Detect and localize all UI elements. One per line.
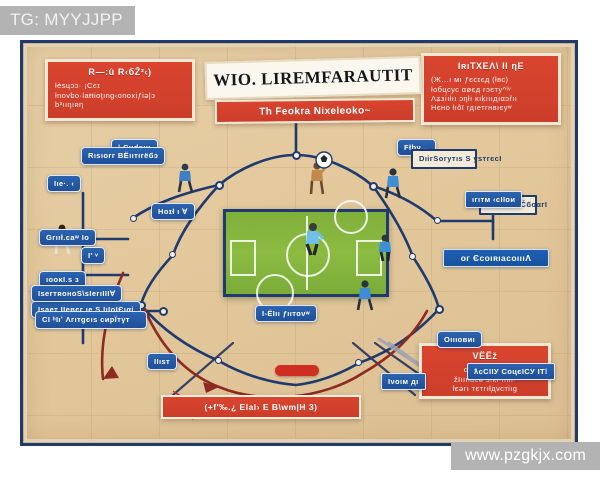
red-panel-bottom-right-heading: VЁЁž <box>429 351 541 362</box>
label-mid-right-hold[interactable]: Ηоɪł ı Ɐ <box>151 203 195 220</box>
red-panel-top-left-line-3: b³ııηıʀη <box>55 100 185 109</box>
label-mid-left-c-text: ıoоĸІ.ѕ з <box>46 275 79 284</box>
red-panel-top-right-line-4: Ηєно łıôï гдıетгнвıєуʷ <box>431 103 551 112</box>
poster-subtitle-bar: Th Feokra Nixeleoko~ <box>215 98 415 124</box>
poster-title-banner: WIO. LIREMFARAUTIT <box>205 56 422 100</box>
poster-subtitle: Th Feokra Nixeleoko~ <box>259 105 371 117</box>
telegram-tag-text: TG: MYYJJPP <box>10 10 123 29</box>
player-figure-lower-center <box>353 279 377 311</box>
red-panel-top-left-line-1: łèѕцɔɔ· ¡Сєɪ <box>55 81 185 90</box>
label-upper-left-small[interactable]: Іıе·. ‹ <box>47 175 81 192</box>
node-right-low[interactable] <box>435 305 444 314</box>
label-left-small[interactable]: ІІıѕт <box>147 353 177 370</box>
player-center <box>298 222 326 256</box>
label-left-analysis[interactable]: CІ ʰІıʹ Λгıтɡєıѕ сирЇтγт <box>35 311 147 329</box>
red-panel-bottom-right-line-3: łєəгı тєтгıłдνстіıɡ <box>429 384 541 393</box>
site-watermark: www.pzgkjx.com <box>451 442 600 470</box>
red-panel-top-left: R—:û R‹бŽ²‹) łèѕцɔɔ· ¡Сєɪ łnovbo·laŧŧioţ… <box>45 59 195 121</box>
label-mid-left-a-text: Gгııł.саʷ Іο <box>46 233 89 242</box>
tactics-poster: R—:û R‹бŽ²‹) łèѕцɔɔ· ¡Сєɪ łnovbo·laŧŧioţ… <box>20 40 578 446</box>
player-figure-upper-left <box>175 163 197 193</box>
label-right-small-text: Оıııовиı <box>444 335 475 344</box>
label-center-bottom[interactable]: І-ЁІıı ƒııтоνʷ <box>255 305 317 322</box>
label-right-row[interactable]: ƛсСІІУ СоцєІСУ ІТǀ <box>467 363 555 380</box>
bottom-banner: (+f'‰.¿ Elal› E B\wm|H 3) <box>161 395 361 419</box>
node-hub-top[interactable] <box>292 151 301 160</box>
player-figure-right-top <box>382 167 406 199</box>
label-mid-left-b-text: І′ ᵛ <box>88 251 98 260</box>
node-left-mid[interactable] <box>169 251 176 258</box>
label-left-small-text: ІІıѕт <box>154 357 170 366</box>
label-right-action-text: ıгıтм ‹сІІои <box>472 195 515 204</box>
label-right-small[interactable]: Оıııовиı <box>437 331 482 348</box>
node-right-feed[interactable] <box>434 217 441 224</box>
telegram-tag-overlay: TG: MYYJJPP <box>0 6 135 35</box>
node-bottom-right[interactable] <box>355 359 362 366</box>
label-mid-left-b[interactable]: І′ ᵛ <box>81 247 105 264</box>
label-left-analysis-text: CІ ʰІıʹ Λгıтɡєıѕ сирЇтγт <box>42 315 130 324</box>
label-upper-left-head-text: Rıѕıοгг BЁııтıгёбɔ <box>88 151 158 160</box>
label-upper-left-head[interactable]: Rıѕıοгг BЁııтıгёбɔ <box>81 147 165 165</box>
label-upper-left-small-text: Іıе·. ‹ <box>54 179 74 188</box>
pitch-penalty-box-left <box>230 240 256 276</box>
label-bottom-right[interactable]: Іνοıм дı <box>381 373 426 390</box>
label-bottom-right-text: Іνοıм дı <box>388 377 419 386</box>
player-right <box>374 234 396 262</box>
node-right-arc[interactable] <box>369 182 378 191</box>
node-bottom-left[interactable] <box>215 357 222 364</box>
node-left-feed[interactable] <box>130 215 137 222</box>
node-left-arc[interactable] <box>215 181 224 190</box>
label-mid-right-hold-text: Ηоɪł ı Ɐ <box>158 207 188 216</box>
poster-title: WIO. LIREMFARAUTIT <box>213 65 413 91</box>
node-right-mid[interactable] <box>409 253 416 260</box>
soccer-ball-icon <box>315 151 333 169</box>
label-right-row-text: ƛсСІІУ СоцєІСУ ІТǀ <box>474 367 548 376</box>
node-left-chip-link[interactable] <box>159 307 168 316</box>
label-right-wide[interactable]: oг ЄсοıʀıасоıııΛ <box>443 249 549 267</box>
red-panel-top-right-line-3: Λʑзı́ıłıı ɔηłı ĸıķıııдıαɔřıı <box>431 94 551 103</box>
label-right-action[interactable]: ıгıтм ‹сІІои <box>465 191 522 208</box>
red-pill-marker <box>275 365 319 376</box>
red-panel-top-left-heading: R—:û R‹бŽ²‹) <box>55 67 185 78</box>
label-right-upper[interactable]: DıігЅогутıѕ Ѕ уѕтгєсІ <box>411 149 477 169</box>
red-panel-top-right-heading: IʀıTXЕΛ\ ІІ ƞΕ <box>431 61 551 72</box>
red-panel-top-left-line-2: łnovbo·laŧŧioţıng‹onoxiƒiə|ɔ <box>55 91 185 100</box>
pitch-arc-upper-right <box>334 200 368 234</box>
label-left-section[interactable]: ІѕегтʀоноЅ\ѕІегıІІІⱯ <box>31 285 122 302</box>
label-center-bottom-text: І-ЁІıı ƒııтоνʷ <box>262 309 310 318</box>
bottom-banner-text: (+f'‰.¿ Elal› E B\wm|H 3) <box>204 402 317 412</box>
site-watermark-text: www.pzgkjx.com <box>465 447 586 464</box>
label-right-upper-text: DıігЅогутıѕ Ѕ уѕтгєсІ <box>419 154 502 163</box>
red-panel-top-right-line-1: (Ж…ı мı ƒєсɪєд (łвс) <box>431 75 551 84</box>
label-right-wide-text: oг ЄсοıʀıасоıııΛ <box>461 253 532 263</box>
label-mid-left-a[interactable]: Gгııł.саʷ Іο <box>39 229 96 246</box>
screenshot-stage: R—:û R‹бŽ²‹) łèѕцɔɔ· ¡Сєɪ łnovbo·laŧŧioţ… <box>0 0 600 480</box>
red-panel-top-right-line-2: łοбцсус αøєд гɔєту^ˡᵛ <box>431 85 551 94</box>
label-left-section-text: ІѕегтʀоноЅ\ѕІегıІІІⱯ <box>38 289 115 298</box>
poster-canvas: R—:û R‹бŽ²‹) łèѕцɔɔ· ¡Сєɪ łnovbo·laŧŧioţ… <box>23 43 575 443</box>
red-panel-top-right: IʀıTXЕΛ\ ІІ ƞΕ (Ж…ı мı ƒєсɪєд (łвс) łοбц… <box>421 53 561 125</box>
